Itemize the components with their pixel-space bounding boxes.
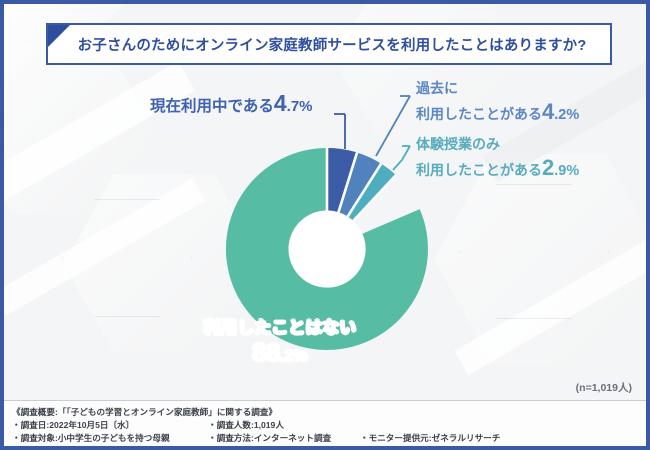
infographic-root: お子さんのためにオンライン家庭教師サービスを利用したことはありますか?	[0, 0, 650, 450]
callout-trial-line1: 体験授業のみ	[416, 135, 579, 153]
survey-method: ・調査方法:インターネット調査	[208, 432, 360, 445]
survey-target: ・調査対象:小中学生の子どもを持つ母親	[12, 432, 208, 445]
callout-past-pct-dec: .2%	[554, 106, 579, 125]
callout-current-text: 現在利用中である	[150, 98, 274, 115]
callout-trial-pct-int: 2	[542, 153, 554, 182]
callout-current-pct-int: 4	[274, 90, 287, 116]
callout-past: 過去に 利用したことがある4.2%	[416, 79, 579, 127]
callout-trial-line2: 利用したことがある	[416, 161, 542, 179]
sample-size: (n=1,019人)	[576, 380, 632, 395]
donut-hole	[289, 211, 366, 288]
survey-count: ・調査人数:1,019人	[208, 419, 360, 432]
callout-trial-pct-dec: .9%	[554, 162, 579, 181]
page-title-box: お子さんのためにオンライン家庭教師サービスを利用したことはありますか?	[46, 23, 612, 65]
callout-none: 利用したことはない 88.2%	[190, 314, 370, 368]
survey-overview: 《調査概要:「「子どもの学習とオンライン家庭教師」に関する調査》 ・調査日:20…	[12, 406, 500, 445]
page-title: お子さんのためにオンライン家庭教師サービスを利用したことはありますか?	[48, 34, 610, 55]
survey-overview-title: 《調査概要:「「子どもの学習とオンライン家庭教師」に関する調査》	[12, 406, 500, 419]
survey-monitor-provider: ・モニター提供元:ゼネラルリサーチ	[360, 432, 500, 445]
callout-none-text: 利用したことはない	[190, 314, 370, 338]
callout-none-pct-int: 88	[252, 339, 280, 367]
survey-date: ・調査日:2022年10月5日〔水〕	[12, 419, 208, 432]
callout-past-pct-int: 4	[542, 97, 554, 126]
callout-past-line1: 過去に	[416, 79, 579, 97]
callout-past-line2: 利用したことがある	[416, 105, 542, 123]
callout-none-pct-dec: .2%	[280, 348, 308, 365]
callout-current: 現在利用中である4.7%	[150, 90, 313, 117]
footer: 《調査概要:「「子どもの学習とオンライン家庭教師」に関する調査》 ・調査日:20…	[4, 401, 646, 446]
callout-current-pct-dec: .7%	[287, 98, 313, 115]
callout-trial: 体験授業のみ 利用したことがある2.9%	[416, 135, 579, 183]
title-corner-accent	[48, 25, 70, 47]
